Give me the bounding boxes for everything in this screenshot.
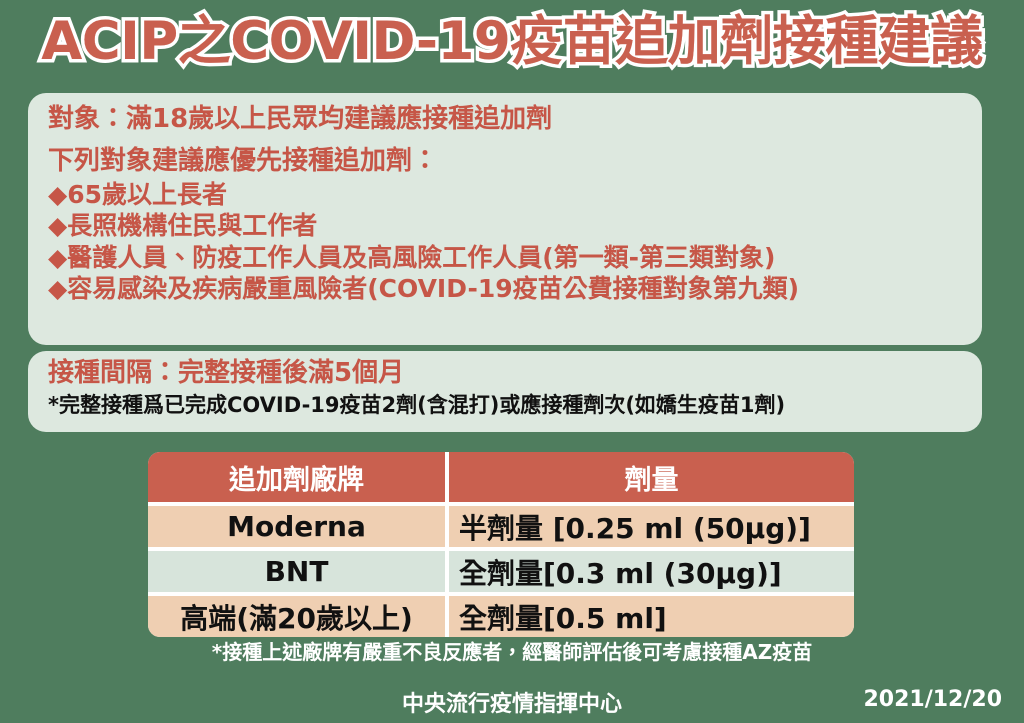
list-item: ◆長照機構住民與工作者 (48, 210, 962, 242)
cell-brand: Moderna (148, 506, 449, 551)
table-footnote: *接種上述廠牌有嚴重不良反應者，經醫師評估後可考慮接種AZ疫苗 (0, 636, 1024, 665)
interval-panel: 接種間隔：完整接種後滿5個月 *完整接種爲已完成COVID-19疫苗2劑(含混打… (28, 351, 982, 432)
table-body: Moderna 半劑量 [0.25 ml (50μg)] BNT 全劑量[0.3… (148, 506, 854, 637)
list-item: ◆醫護人員、防疫工作人員及高風險工作人員(第一類-第三類對象) (48, 242, 962, 274)
dose-table: 追加劑廠牌 劑量 Moderna 半劑量 [0.25 ml (50μg)] BN… (148, 452, 854, 637)
table-header: 追加劑廠牌 劑量 (148, 452, 854, 506)
target-subheading: 下列對象建議應優先接種追加劑： (48, 145, 962, 178)
cell-brand: 高端(滿20歲以上) (148, 596, 449, 637)
poster-title-stack: ACIP之COVID-19疫苗追加劑接種建議 ACIP之COVID-19疫苗追加… (41, 12, 982, 71)
interval-heading: 接種間隔：完整接種後滿5個月 (48, 357, 962, 390)
cell-dose: 全劑量[0.5 ml] (449, 596, 854, 637)
list-item: ◆65歲以上長者 (48, 179, 962, 211)
target-heading: 對象：滿18歲以上民眾均建議應接種追加劑 (48, 103, 962, 136)
column-header-brand: 追加劑廠牌 (148, 452, 449, 506)
table-row: BNT 全劑量[0.3 ml (30μg)] (148, 551, 854, 596)
interval-note: *完整接種爲已完成COVID-19疫苗2劑(含混打)或應接種劑次(如嬌生疫苗1劑… (48, 393, 962, 418)
list-item: ◆容易感染及疾病嚴重風險者(COVID-19疫苗公費接種對象第九類) (48, 273, 962, 305)
column-header-dose: 劑量 (449, 452, 854, 506)
table-header-row: 追加劑廠牌 劑量 (148, 452, 854, 506)
cell-dose: 半劑量 [0.25 ml (50μg)] (449, 506, 854, 551)
table-row: Moderna 半劑量 [0.25 ml (50μg)] (148, 506, 854, 551)
table-row: 高端(滿20歲以上) 全劑量[0.5 ml] (148, 596, 854, 637)
target-population-panel: 對象：滿18歲以上民眾均建議應接種追加劑 下列對象建議應優先接種追加劑： ◆65… (28, 93, 982, 345)
page-title: ACIP之COVID-19疫苗追加劑接種建議 (41, 12, 982, 71)
title-container: ACIP之COVID-19疫苗追加劑接種建議 ACIP之COVID-19疫苗追加… (0, 12, 1024, 71)
cell-dose: 全劑量[0.3 ml (30μg)] (449, 551, 854, 596)
spacer (48, 136, 962, 145)
poster-root: ACIP之COVID-19疫苗追加劑接種建議 ACIP之COVID-19疫苗追加… (0, 0, 1024, 723)
cell-brand: BNT (148, 551, 449, 596)
footer-date: 2021/12/20 (863, 687, 1002, 712)
